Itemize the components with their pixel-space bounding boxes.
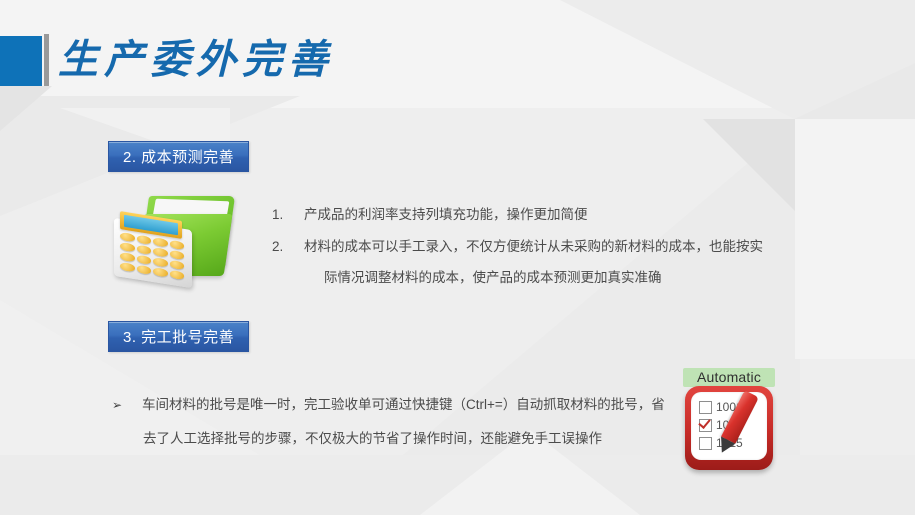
title-shadow-triangle — [0, 86, 52, 131]
calculator-key — [137, 255, 152, 265]
automatic-checklist-icon: Automatic 1001 1002 1015 — [680, 368, 778, 473]
calculator-key — [137, 235, 152, 245]
list-item-text-line1: 材料的成本可以手工录入，不仅方便统计从未采购的新材料的成本，也能按实 — [304, 239, 763, 254]
calculator-key — [120, 252, 135, 262]
calculator-key — [153, 237, 168, 247]
checklist-header-label: Automatic — [683, 368, 775, 387]
title-accent-square — [0, 36, 42, 86]
list-item-text-line2: 际情况调整材料的成本，使产品的成本预测更加真实准确 — [304, 262, 802, 293]
list-item: 2. 材料的成本可以手工录入，不仅方便统计从未采购的新材料的成本，也能按实 际情… — [272, 231, 802, 293]
title-accent-bar — [44, 34, 49, 88]
calculator-key — [120, 232, 135, 242]
list-item-marker: 1. — [272, 199, 304, 230]
arrow-bullet-icon: ➢ — [112, 388, 142, 456]
cost-forecast-numbered-list: 1. 产成品的利润率支持列填充功能，操作更加简便 2. 材料的成本可以手工录入，… — [272, 199, 802, 294]
list-item: ➢ 车间材料的批号是唯一时，完工验收单可通过快捷键（Ctrl+=）自动抓取材料的… — [112, 388, 692, 456]
checkbox-icon[interactable] — [699, 437, 712, 450]
batch-number-bullet-list: ➢ 车间材料的批号是唯一时，完工验收单可通过快捷键（Ctrl+=）自动抓取材料的… — [112, 388, 692, 456]
calculator-key — [153, 257, 168, 267]
list-item: 1. 产成品的利润率支持列填充功能，操作更加简便 — [272, 199, 802, 230]
calculator-key — [170, 240, 185, 250]
slide-canvas: 生产委外完善 2. 成本预测完善 — [0, 0, 915, 515]
list-item-marker: 2. — [272, 231, 304, 293]
calculator-key — [120, 242, 135, 252]
calculator-key — [153, 247, 168, 257]
calculator-key — [170, 260, 185, 270]
bg-facet-lower-right-triangle — [703, 119, 795, 211]
bg-facet-lower-right — [795, 119, 915, 359]
calculator-key — [137, 245, 152, 255]
list-item-text-line1: 车间材料的批号是唯一时，完工验收单可通过快捷键（Ctrl+=）自动抓取材料的批号… — [142, 397, 665, 412]
calculator-key — [170, 250, 185, 260]
section-header-batch-number[interactable]: 3. 完工批号完善 — [108, 321, 249, 352]
checkbox-checked-icon[interactable] — [699, 419, 712, 432]
list-item-text-line2: 去了人工选择批号的步骤，不仅极大的节省了操作时间，还能避免手工误操作 — [142, 422, 692, 456]
page-title: 生产委外完善 — [58, 34, 334, 86]
list-item-text-line1: 产成品的利润率支持列填充功能，操作更加简便 — [304, 207, 588, 222]
green-folder-calculator-icon — [114, 196, 236, 288]
checkbox-icon[interactable] — [699, 401, 712, 414]
section-header-cost-forecast[interactable]: 2. 成本预测完善 — [108, 141, 249, 172]
